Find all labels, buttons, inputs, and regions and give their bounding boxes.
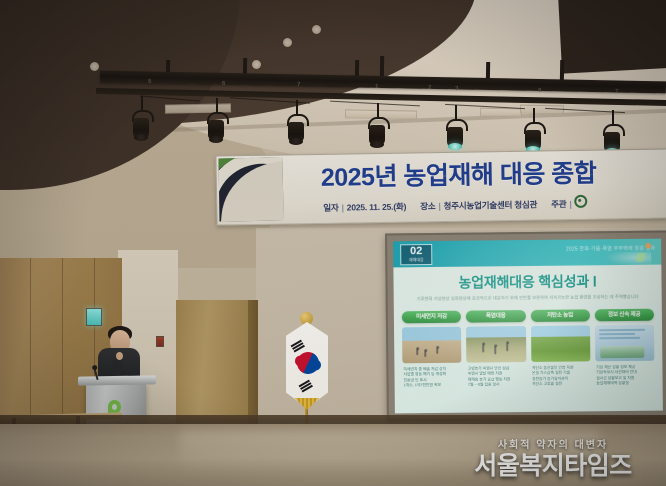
projection-screen: 02 재해대응 2025 한파·가뭄·폭염 무주택에 점검 결과 농업재해대응 … (385, 231, 666, 422)
banner-logo-swoosh-icon (219, 158, 284, 222)
card-bullet-list: 저탄소 농산물인 인증 지원 온실 가스감축 실천 기술 실천농가 농가실적관리… (531, 365, 590, 387)
truss-channel-label: 6 (222, 81, 226, 87)
banner-place-label: 장소 (420, 201, 435, 211)
lamp-lens (448, 143, 462, 150)
watermark-brand-name: 서울복지타임즈 (448, 452, 658, 480)
host-organization-icon (575, 195, 588, 208)
event-banner: 2025년 농업재해 대응 종합 일자|2025. 11. 25.(화)장소|청… (215, 148, 666, 225)
card-bullet-list: 미세먼지 총 배출 저감 장치 사업별 영농 폐기 등 개정화 친환경 인 표시… (402, 367, 461, 389)
banner-place-value: 청주시농업기술센터 청심관 (444, 200, 538, 211)
banner-date-value: 2025. 11. 25.(화) (347, 202, 407, 213)
card-title-pill: 정보 신속 제공 (595, 309, 654, 322)
card-bullet: 7월 ~ 8월 집중 실시 (468, 382, 526, 388)
recessed-downlight (312, 25, 321, 34)
slide-header-decoration (605, 252, 651, 266)
slide-card: 폭염대응 고령농가 폭염시 안전 점검 폭염시 열탈 예방 지원 재해종 농가 … (466, 310, 526, 407)
wood-wall-panel-mid (176, 300, 248, 428)
card-title-pill: 미세먼지 저감 (402, 311, 461, 324)
truss-channel-label: 7 (297, 82, 301, 88)
card-bullet: 1개소, 1억7천만원 확보 (404, 383, 462, 389)
dusty-field-photo (402, 327, 462, 364)
card-bullet-list: 기상 재난 상황 정보 제공 기상특보시 사전대비 안내 실시간 상황보고 및 … (595, 365, 654, 387)
ceiling-right-dark-strip (558, 0, 666, 74)
truss-channel-label: 2 (428, 85, 432, 91)
slide-header-bar: 02 재해대응 2025 한파·가뭄·폭염 무주택에 점검 결과 (393, 239, 661, 268)
card-title-pill: 저탄소 농업 (530, 309, 589, 322)
emergency-exit-sign-icon (86, 308, 102, 326)
watermark-tagline: 사회적 약자의 대변자 (448, 436, 658, 451)
badge-text: 재해대응 (401, 257, 431, 262)
green-cropfield-photo (530, 325, 590, 362)
card-bullet: 저탄소 고효율 실천 (532, 382, 590, 388)
banner-date-label: 일자 (323, 203, 338, 213)
conference-hall-photo: 5 6 7 1 2 3 8 7 (0, 0, 666, 486)
card-title-pill: 폭염대응 (466, 310, 525, 323)
ceiling-vent (480, 108, 522, 118)
lamp-lens (209, 136, 223, 143)
slide-card: 미세먼지 저감 미세먼지 총 배출 저감 장치 사업별 영농 폐기 등 개정화 … (402, 311, 462, 408)
slide-section-badge: 02 재해대응 (400, 244, 432, 265)
badge-number: 02 (401, 246, 431, 257)
slide-card: 정보 신속 제공 기상 재난 상황 정보 제공 기상특보시 사전대비 안내 실시… (595, 309, 655, 406)
banner-host-label: 주관 (551, 199, 566, 209)
hillside-workers-photo (466, 326, 526, 363)
slide-card-row: 미세먼지 저감 미세먼지 총 배출 저감 장치 사업별 영농 폐기 등 개정화 … (402, 309, 655, 408)
lamp-lens (134, 134, 148, 141)
recessed-downlight (252, 60, 261, 69)
wood-trim-strip (248, 300, 258, 428)
truss-channel-label: 3 (455, 86, 459, 92)
stage-light (131, 110, 151, 140)
card-bullet: 농업재해대책 상황실 (596, 381, 654, 387)
banner-subtitle: 일자|2025. 11. 25.(화)장소|청주시농업기술센터 청심관주관| (323, 193, 666, 213)
truss-channel-label: 8 (538, 88, 542, 94)
fire-alarm-box-icon (156, 336, 164, 347)
watermark: 사회적 약자의 대변자 서울복지타임즈 (448, 436, 658, 480)
stage-light (367, 117, 387, 147)
slide-lead-text: 기후변화 기상현상 심화현상에 효과적으로 대응하기 위해 만반를 보완하여 지… (412, 294, 644, 302)
lamp-lens (370, 141, 384, 148)
card-bullet-list: 고령농가 폭염시 안전 점검 폭염시 열탈 예방 지원 재해종 농가 응급 행동… (467, 366, 526, 388)
stage-light (206, 112, 226, 142)
stage-light-illuminated (523, 122, 543, 152)
recessed-downlight (90, 62, 99, 71)
speaker-hand (116, 352, 123, 360)
lamp-lens (289, 138, 303, 145)
truss-channel-label: 5 (148, 79, 152, 85)
truss-channel-label: 7 (615, 89, 619, 95)
stage-light-illuminated (445, 119, 465, 149)
stage-light (286, 114, 306, 144)
presentation-slide: 02 재해대응 2025 한파·가뭄·폭염 무주택에 점검 결과 농업재해대응 … (393, 239, 663, 414)
truss-channel-label: 1 (375, 84, 379, 90)
recessed-downlight (283, 38, 292, 47)
slide-title: 농업재해대응 핵심성과 Ⅰ (393, 271, 661, 294)
slide-card: 저탄소 농업 저탄소 농산물인 인증 지원 온실 가스감축 실천 기술 실천농가… (530, 309, 590, 406)
lectern-top-surface (78, 375, 156, 385)
report-screenshot-photo (595, 325, 655, 362)
banner-title: 2025년 농업재해 대응 종합 (321, 157, 666, 192)
